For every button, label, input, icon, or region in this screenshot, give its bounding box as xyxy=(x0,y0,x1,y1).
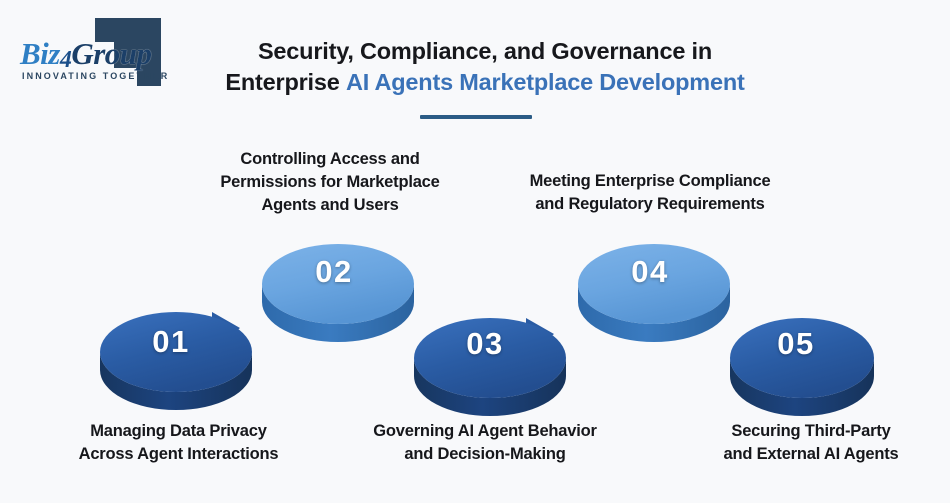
step-marker-01: 01 xyxy=(96,296,246,396)
step-marker-02: 02 xyxy=(258,232,410,332)
step-caption-02: Controlling Access and Permissions for M… xyxy=(185,148,475,216)
infographic-canvas: Biz4Group INNOVATING TOGETHER Security, … xyxy=(0,0,950,503)
step-disc-02-icon xyxy=(258,232,410,332)
step-caption-02-line-2: Permissions for Marketplace xyxy=(185,171,475,194)
step-caption-02-line-1: Controlling Access and xyxy=(185,148,475,171)
title-line-1: Security, Compliance, and Governance in xyxy=(258,38,712,64)
step-caption-03-line-2: and Decision-Making xyxy=(340,443,630,466)
step-marker-04: 04 xyxy=(574,232,726,332)
step-caption-03-line-1: Governing AI Agent Behavior xyxy=(340,420,630,443)
step-disc-04-icon xyxy=(574,232,726,332)
step-marker-05: 05 xyxy=(726,302,866,400)
step-caption-04: Meeting Enterprise Compliance and Regula… xyxy=(495,170,805,216)
step-caption-01-line-2: Across Agent Interactions xyxy=(36,443,321,466)
step-marker-03: 03 xyxy=(410,302,560,402)
step-disc-03-icon xyxy=(410,302,560,402)
step-caption-03: Governing AI Agent Behavior and Decision… xyxy=(340,420,630,466)
logo-word-four: 4 xyxy=(60,47,72,73)
step-caption-05: Securing Third-Party and External AI Age… xyxy=(676,420,946,466)
logo-tagline: INNOVATING TOGETHER xyxy=(22,71,169,81)
logo-wordmark: Biz4Group xyxy=(20,36,152,74)
step-caption-04-line-2: and Regulatory Requirements xyxy=(495,193,805,216)
step-caption-05-line-2: and External AI Agents xyxy=(676,443,946,466)
brand-logo: Biz4Group INNOVATING TOGETHER xyxy=(14,14,179,90)
logo-word-group: Group xyxy=(71,36,151,71)
title-underline-rule xyxy=(420,115,532,119)
title-line-2-plain: Enterprise xyxy=(225,69,346,95)
step-caption-04-line-1: Meeting Enterprise Compliance xyxy=(495,170,805,193)
step-caption-01-line-1: Managing Data Privacy xyxy=(36,420,321,443)
step-caption-02-line-3: Agents and Users xyxy=(185,194,475,217)
step-disc-05-icon xyxy=(726,302,866,400)
step-caption-05-line-1: Securing Third-Party xyxy=(676,420,946,443)
logo-word-biz: Biz xyxy=(20,36,60,71)
step-disc-01-icon xyxy=(96,296,246,396)
title-line-2-highlight: AI Agents Marketplace Development xyxy=(346,69,745,95)
step-caption-01: Managing Data Privacy Across Agent Inter… xyxy=(36,420,321,466)
page-title: Security, Compliance, and Governance in … xyxy=(195,36,775,99)
